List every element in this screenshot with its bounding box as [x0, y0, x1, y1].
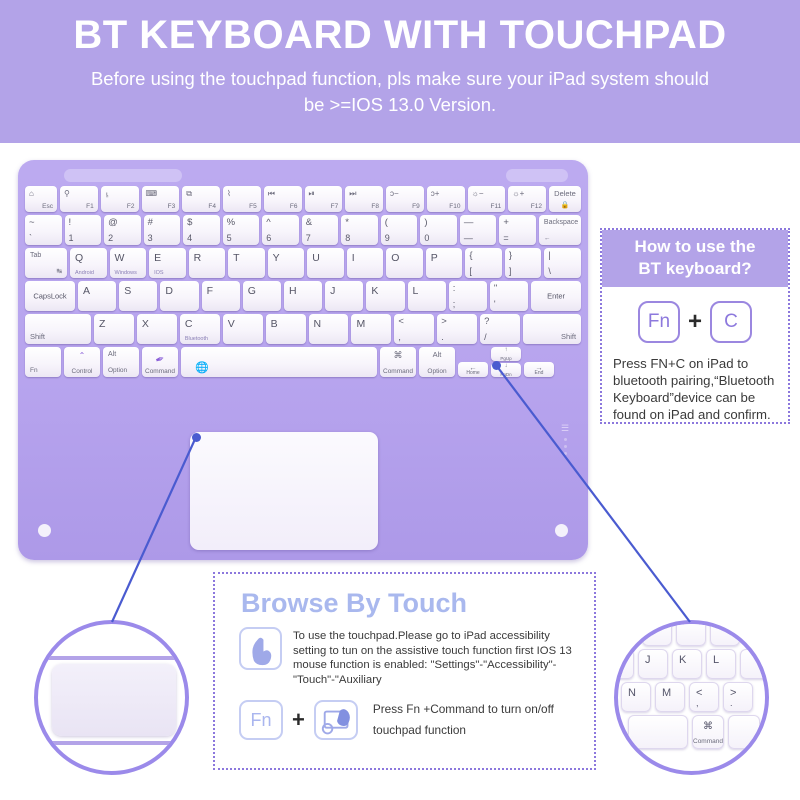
- key-tab[interactable]: Tab ↹: [25, 248, 67, 278]
- key-2-bottom: 2: [108, 233, 113, 243]
- home-icon: ⌂: [29, 189, 34, 198]
- key-6[interactable]: ^ 6: [262, 215, 299, 245]
- key-backtick-top: ~: [29, 218, 35, 228]
- key-command-left-label: Command: [142, 368, 178, 375]
- key-k-label: K: [371, 285, 378, 297]
- control-icon: ⌃: [79, 351, 86, 360]
- key-space[interactable]: 🌐: [181, 347, 377, 377]
- key-y[interactable]: Y: [268, 248, 305, 278]
- brightness-up-icon: ☼+: [512, 189, 524, 198]
- magnified-key-m-label: M: [662, 687, 671, 699]
- key-o[interactable]: O: [386, 248, 423, 278]
- key-w-sublabel: Windows: [115, 270, 137, 276]
- key-quote-bottom: ': [494, 299, 496, 309]
- key-fn-label: Fn: [30, 367, 38, 374]
- key-control-label: Control: [64, 368, 100, 375]
- key-semicolon[interactable]: : ;: [449, 281, 487, 311]
- key-backtick-bottom: `: [29, 233, 32, 243]
- header-banner: BT KEYBOARD WITH TOUCHPAD Before using t…: [0, 0, 800, 143]
- magnified-touchpad: [52, 664, 176, 736]
- key-q-label: Q: [75, 252, 83, 264]
- key-e[interactable]: E IOS: [149, 248, 186, 278]
- key-j-label: J: [330, 285, 335, 297]
- key-o-label: O: [391, 252, 399, 264]
- key-command-right-label: Command: [380, 368, 416, 375]
- key-tab-label: Tab: [30, 252, 41, 259]
- key-m-label: M: [356, 318, 365, 330]
- key-t-label: T: [233, 252, 239, 264]
- key-8-top: *: [345, 218, 349, 228]
- key-f12-label: F12: [531, 203, 542, 210]
- key-f3[interactable]: ⌨ F3: [142, 186, 180, 212]
- browse-by-touch-title: Browse By Touch: [215, 574, 594, 619]
- key-equal-bottom: =: [503, 233, 508, 243]
- key-f7-label: F7: [331, 203, 339, 210]
- key-6-top: ^: [266, 218, 270, 228]
- magnified-key-partial-6: [728, 715, 760, 749]
- touch-shortcut-note-line1: Press Fn +Command to turn on/off: [373, 699, 554, 720]
- key-f5[interactable]: ⌇ F5: [223, 186, 261, 212]
- key-e-label: E: [154, 252, 161, 264]
- key-h[interactable]: H: [284, 281, 322, 311]
- key-f2-label: F2: [127, 203, 135, 210]
- key-backspace[interactable]: Backspace ←: [539, 215, 581, 245]
- key-c[interactable]: C Bluetooth: [180, 314, 220, 344]
- key-f[interactable]: F: [202, 281, 240, 311]
- search-icon: ⚲: [64, 189, 70, 198]
- touch-instruction-block: To use the touchpad.Please go to iPad ac…: [215, 619, 594, 687]
- magnified-key-l-label: L: [713, 654, 719, 666]
- key-option-right[interactable]: Alt Option: [419, 347, 455, 377]
- key-t[interactable]: T: [228, 248, 265, 278]
- bt-shortcut-row: Fn + C: [602, 301, 788, 343]
- key-y-label: Y: [273, 252, 280, 264]
- touch-plus-sign: +: [292, 707, 305, 733]
- key-h-label: H: [289, 285, 297, 297]
- magnified-key-partial-2: [676, 620, 706, 646]
- indicator-dot-2: [564, 445, 567, 448]
- key-minus-bottom: —: [464, 233, 473, 243]
- plus-sign: +: [688, 308, 702, 336]
- key-home-label: Home: [458, 370, 488, 376]
- key-delete[interactable]: Delete 🔒: [549, 186, 581, 212]
- magnified-command-label: Command: [693, 738, 723, 745]
- key-l-label: L: [413, 285, 419, 297]
- key-period-top: >: [441, 317, 447, 327]
- key-9[interactable]: ( 9: [381, 215, 418, 245]
- key-2[interactable]: @ 2: [104, 215, 141, 245]
- key-capslock[interactable]: CapsLock: [25, 281, 75, 311]
- magnified-key-n: N: [621, 682, 651, 712]
- key-f11[interactable]: ☼− F11: [468, 186, 506, 212]
- key-f4-label: F4: [208, 203, 216, 210]
- key-f1-label: F1: [86, 203, 94, 210]
- magnified-key-k-label: K: [679, 654, 686, 666]
- key-v-label: V: [228, 318, 235, 330]
- previous-track-icon: ⏮: [268, 189, 275, 199]
- touchpad-magnifier: [34, 620, 189, 775]
- touch-shortcut-row: Fn + Press Fn +Command to turn on/off to…: [215, 687, 594, 741]
- magnified-key-command: ⌘ Command: [692, 715, 724, 749]
- key-m[interactable]: M: [351, 314, 391, 344]
- key-d-label: D: [165, 285, 173, 297]
- key-c-label: C: [185, 318, 193, 330]
- volume-up-icon: ᴐ+: [431, 189, 440, 198]
- shortcut-key-fn: Fn: [638, 301, 680, 343]
- magnified-key-comma-bottom: ,: [696, 698, 699, 708]
- globe-icon: 🌐: [195, 361, 209, 374]
- key-quote-top: ": [494, 284, 497, 294]
- key-3-bottom: 3: [148, 233, 153, 243]
- keyboard-foot-left: [38, 524, 51, 537]
- key-f8-label: F8: [371, 203, 379, 210]
- keyboard-brightness-icon: ⍸: [105, 189, 110, 199]
- bt-callout-body: Press FN+C on iPad to bluetooth pairing,…: [602, 343, 788, 423]
- key-minus[interactable]: — —: [460, 215, 497, 245]
- hand-touch-icon: [239, 627, 282, 670]
- command-icon: ⌘: [380, 350, 416, 361]
- key-backslash-bottom: \: [548, 266, 551, 276]
- keyboard-foot-right: [555, 524, 568, 537]
- key-semicolon-top: :: [453, 284, 456, 294]
- browse-by-touch-callout: Browse By Touch To use the touchpad.Plea…: [213, 572, 596, 770]
- key-shift-right-label: Shift: [561, 332, 576, 341]
- indicator-dot-1: [564, 438, 567, 441]
- key-option-right-label: Option: [419, 368, 455, 375]
- key-option-left[interactable]: Alt Option: [103, 347, 139, 377]
- key-slash-bottom: /: [484, 332, 487, 342]
- key-1-bottom: 1: [69, 233, 74, 243]
- key-7-top: &: [306, 218, 312, 228]
- key-8[interactable]: * 8: [341, 215, 378, 245]
- key-3[interactable]: # 3: [144, 215, 181, 245]
- key-x[interactable]: X: [137, 314, 177, 344]
- touch-shortcut-key-fn: Fn: [239, 700, 283, 740]
- home-key-row: CapsLock A S D F G H J K: [25, 281, 581, 311]
- key-5-top: %: [227, 218, 235, 228]
- touch-instruction-text: To use the touchpad.Please go to iPad ac…: [293, 627, 582, 687]
- key-bracket-right-bottom: ]: [509, 266, 512, 276]
- key-7[interactable]: & 7: [302, 215, 339, 245]
- touch-shortcut-note: Press Fn +Command to turn on/off touchpa…: [367, 699, 554, 741]
- arrow-up-icon: ↑: [491, 347, 521, 353]
- key-f7[interactable]: ⏯ F7: [305, 186, 343, 212]
- touchpad-anchor-dot: [192, 433, 201, 442]
- screenshot-icon: ⧉: [186, 189, 192, 199]
- key-f1[interactable]: ⚲ F1: [60, 186, 98, 212]
- tab-arrow-icon: ↹: [57, 267, 62, 275]
- key-comma[interactable]: < ,: [394, 314, 434, 344]
- key-shift-left-label: Shift: [30, 332, 45, 341]
- key-w[interactable]: W Windows: [110, 248, 147, 278]
- keyboard-key-area: ⌂ Esc ⚲ F1 ⍸ F2 ⌨ F3 ⧉ F4 ⌇ F5: [25, 186, 581, 380]
- key-g[interactable]: G: [243, 281, 281, 311]
- magnified-key-period: > .: [723, 682, 753, 712]
- key-1[interactable]: ! 1: [65, 215, 102, 245]
- key-pgdn-label: PgDn: [491, 372, 521, 377]
- magnified-key-l: L: [706, 649, 736, 679]
- lock-icon: 🔒: [561, 201, 570, 209]
- key-f10-label: F10: [449, 203, 460, 210]
- key-equal-top: +: [503, 218, 509, 228]
- play-pause-icon: ⏯: [309, 189, 315, 199]
- keys-magnifier: J K L N M < , > . ⌘ Command: [614, 620, 769, 775]
- key-5-bottom: 5: [227, 233, 232, 243]
- backspace-arrow-icon: ←: [544, 235, 551, 242]
- key-slash[interactable]: ? /: [480, 314, 520, 344]
- key-q-sublabel: Android: [75, 270, 94, 276]
- key-shift-left[interactable]: Shift: [25, 314, 91, 344]
- key-9-top: (: [385, 218, 388, 228]
- magnified-key-m: M: [655, 682, 685, 712]
- key-f8[interactable]: ⏭ F8: [345, 186, 383, 212]
- keys-anchor-dot: [492, 361, 501, 370]
- shortcut-key-c: C: [710, 301, 752, 343]
- key-delete-label: Delete: [549, 189, 581, 198]
- magnified-key-space: [628, 715, 688, 749]
- magnified-key-partial-3: [710, 620, 740, 646]
- key-slash-top: ?: [484, 317, 489, 327]
- siri-icon: ⌇: [227, 189, 231, 198]
- key-f6-label: F6: [290, 203, 298, 210]
- key-esc[interactable]: ⌂ Esc: [25, 186, 57, 212]
- magnified-key-comma: < ,: [689, 682, 719, 712]
- key-4-top: $: [187, 218, 192, 228]
- key-enter[interactable]: Enter: [531, 281, 581, 311]
- key-w-label: W: [115, 252, 125, 264]
- key-n[interactable]: N: [309, 314, 349, 344]
- key-f11-label: F11: [491, 203, 502, 210]
- key-j[interactable]: J: [325, 281, 363, 311]
- key-enter-label: Enter: [531, 292, 581, 301]
- key-g-label: G: [248, 285, 256, 297]
- next-track-icon: ⏭: [349, 189, 356, 199]
- key-l[interactable]: L: [408, 281, 446, 311]
- key-option-right-alt: Alt: [419, 350, 455, 359]
- key-period[interactable]: > .: [437, 314, 477, 344]
- key-s-label: S: [124, 285, 131, 297]
- key-backspace-label: Backspace: [544, 219, 578, 226]
- page-title: BT KEYBOARD WITH TOUCHPAD: [0, 12, 800, 58]
- key-bracket-left[interactable]: { [: [465, 248, 502, 278]
- bluetooth-indicator-icon: ☰: [559, 422, 571, 434]
- key-p-label: P: [431, 252, 438, 264]
- key-v[interactable]: V: [223, 314, 263, 344]
- magnified-key-j: J: [638, 649, 668, 679]
- key-bracket-right[interactable]: } ]: [505, 248, 542, 278]
- key-x-label: X: [142, 318, 149, 330]
- shift-key-row: Shift Z X C Bluetooth V B N M: [25, 314, 581, 344]
- key-control[interactable]: ⌃ Control: [64, 347, 100, 377]
- key-0-bottom: 0: [424, 233, 429, 243]
- key-command-left[interactable]: ✒ Command: [142, 347, 178, 377]
- status-indicators: ☰: [559, 422, 571, 459]
- key-bracket-left-top: {: [469, 251, 472, 261]
- touch-shortcut-note-line2: touchpad function: [373, 720, 554, 741]
- key-shift-right[interactable]: Shift: [523, 314, 581, 344]
- key-f3-label: F3: [168, 203, 176, 210]
- key-backtick[interactable]: ~ `: [25, 215, 62, 245]
- key-option-left-alt: Alt: [108, 351, 116, 358]
- key-f12[interactable]: ☼+ F12: [508, 186, 546, 212]
- key-capslock-label: CapsLock: [25, 292, 75, 301]
- key-2-top: @: [108, 218, 118, 228]
- bt-callout-header: How to use the BT keyboard?: [602, 230, 788, 287]
- key-option-left-label: Option: [108, 367, 127, 374]
- magnified-key-partial-5: [614, 649, 634, 679]
- key-f-label: F: [207, 285, 213, 297]
- key-bracket-left-bottom: [: [469, 266, 472, 276]
- key-f2[interactable]: ⍸ F2: [101, 186, 139, 212]
- key-0[interactable]: ) 0: [420, 215, 457, 245]
- keyboard-top-pill-left: [64, 169, 182, 182]
- keyboard-icon: ⌨: [146, 189, 158, 198]
- bt-callout-title-line1: How to use the: [606, 236, 784, 258]
- key-f9-label: F9: [412, 203, 420, 210]
- magnified-key-period-bottom: .: [730, 698, 733, 708]
- bt-keyboard-callout: How to use the BT keyboard? Fn + C Press…: [600, 228, 790, 424]
- key-i-label: I: [352, 252, 355, 264]
- key-comma-bottom: ,: [398, 332, 401, 342]
- key-esc-label: Esc: [42, 203, 53, 210]
- key-r[interactable]: R: [189, 248, 226, 278]
- key-1-top: !: [69, 218, 72, 228]
- number-key-row: ~ ` ! 1 @ 2 # 3 $ 4 % 5: [25, 215, 581, 245]
- key-k[interactable]: K: [366, 281, 404, 311]
- key-3-top: #: [148, 218, 153, 228]
- key-f9[interactable]: ᴐ− F9: [386, 186, 424, 212]
- key-comma-top: <: [398, 317, 404, 327]
- key-backslash-top: |: [548, 251, 550, 261]
- key-q[interactable]: Q Android: [70, 248, 107, 278]
- key-d[interactable]: D: [160, 281, 198, 311]
- qwerty-key-row: Tab ↹ Q Android W Windows E IOS R T: [25, 248, 581, 278]
- volume-down-icon: ᴐ−: [390, 189, 399, 198]
- bt-callout-title-line2: BT keyboard?: [606, 258, 784, 280]
- key-0-top: ): [424, 218, 427, 228]
- key-b[interactable]: B: [266, 314, 306, 344]
- magnified-key-n-label: N: [628, 687, 636, 699]
- key-z[interactable]: Z: [94, 314, 134, 344]
- magnified-key-k: K: [672, 649, 702, 679]
- function-key-row: ⌂ Esc ⚲ F1 ⍸ F2 ⌨ F3 ⧉ F4 ⌇ F5: [25, 186, 581, 212]
- key-u[interactable]: U: [307, 248, 344, 278]
- key-i[interactable]: I: [347, 248, 384, 278]
- touchpad-gesture-icon: [314, 700, 358, 740]
- magnified-key-j-label: J: [645, 654, 651, 666]
- keyboard-top-pill-right: [506, 169, 568, 182]
- key-e-sublabel: IOS: [154, 270, 163, 276]
- key-7-bottom: 7: [306, 233, 311, 243]
- key-end-label: End: [524, 370, 554, 376]
- pen-icon: ✒: [153, 352, 166, 367]
- magnified-command-icon: ⌘: [693, 721, 723, 732]
- key-f4[interactable]: ⧉ F4: [182, 186, 220, 212]
- key-command-right[interactable]: ⌘ Command: [380, 347, 416, 377]
- key-bracket-right-top: }: [509, 251, 512, 261]
- key-u-label: U: [312, 252, 320, 264]
- key-period-bottom: .: [441, 332, 444, 342]
- key-minus-top: —: [464, 218, 474, 228]
- key-arrow-up[interactable]: ↑ PgUp: [491, 347, 521, 361]
- key-s[interactable]: S: [119, 281, 157, 311]
- touchpad[interactable]: [190, 432, 378, 550]
- key-c-sublabel: Bluetooth: [185, 336, 208, 342]
- key-arrow-right[interactable]: → End: [524, 362, 554, 377]
- key-4[interactable]: $ 4: [183, 215, 220, 245]
- key-r-label: R: [194, 252, 202, 264]
- key-backslash[interactable]: | \: [544, 248, 581, 278]
- key-arrow-left[interactable]: ← Home: [458, 362, 488, 377]
- key-f10[interactable]: ᴐ+ F10: [427, 186, 465, 212]
- key-a-label: A: [83, 285, 90, 297]
- key-9-bottom: 9: [385, 233, 390, 243]
- key-n-label: N: [314, 318, 322, 330]
- key-b-label: B: [271, 318, 278, 330]
- key-5[interactable]: % 5: [223, 215, 260, 245]
- key-4-bottom: 4: [187, 233, 192, 243]
- key-f5-label: F5: [249, 203, 257, 210]
- key-z-label: Z: [99, 318, 105, 330]
- key-6-bottom: 6: [266, 233, 271, 243]
- key-equal[interactable]: + =: [499, 215, 536, 245]
- magnified-key-partial-4: [740, 649, 769, 679]
- page-subtitle: Before using the touchpad function, pls …: [0, 66, 800, 118]
- magnified-key-partial-1: [642, 620, 672, 646]
- key-a[interactable]: A: [78, 281, 116, 311]
- bt-keyboard: ⌂ Esc ⚲ F1 ⍸ F2 ⌨ F3 ⧉ F4 ⌇ F5: [18, 160, 588, 560]
- key-fn[interactable]: Fn: [25, 347, 61, 377]
- key-quote[interactable]: " ': [490, 281, 528, 311]
- key-f6[interactable]: ⏮ F6: [264, 186, 302, 212]
- key-p[interactable]: P: [426, 248, 463, 278]
- key-semicolon-bottom: ;: [453, 299, 456, 309]
- brightness-down-icon: ☼−: [472, 189, 484, 198]
- key-8-bottom: 8: [345, 233, 350, 243]
- indicator-dot-3: [564, 452, 567, 455]
